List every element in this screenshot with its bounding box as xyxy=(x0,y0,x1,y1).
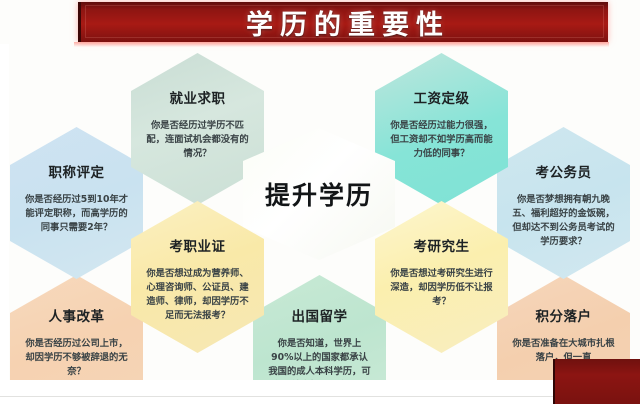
hex-title: 职称评定 xyxy=(49,161,105,181)
hex-zhicheng-pingding[interactable]: 职称评定 你是否经历过5到10年才能评定职称，而高学历的同事只需要2年？ xyxy=(10,127,143,279)
hex-title: 考职业证 xyxy=(170,235,226,255)
hex-title: 出国留学 xyxy=(292,305,348,325)
hex-body: 你是否梦想拥有朝九晚五、福利超好的金饭碗，但却达不到公务员考试的学历要求？ xyxy=(497,193,630,250)
hex-title: 工资定级 xyxy=(414,87,470,107)
bottom-page-mask xyxy=(0,380,640,404)
hex-body: 你是否经历过公司上市，却因学历不够被辞退的无奈？ xyxy=(10,337,143,379)
hex-body: 你是否想过考研究生进行深造，却因学历低不让报考？ xyxy=(375,267,508,309)
banner-glow xyxy=(74,42,609,47)
hex-title: 积分落户 xyxy=(536,305,592,325)
red-overlay-patch xyxy=(553,359,640,404)
hex-title: 考研究生 xyxy=(414,235,470,255)
left-page-mask xyxy=(0,44,9,384)
page-title: 学历的重要性 xyxy=(239,3,450,42)
hex-body: 你是否经历过5到10年才能评定职称，而高学历的同事只需要2年？ xyxy=(10,193,143,235)
hex-kao-gongwuyuan[interactable]: 考公务员 你是否梦想拥有朝九晚五、福利超好的金饭碗，但却达不到公务员考试的学历要… xyxy=(497,127,630,279)
bottom-rule xyxy=(0,396,640,397)
hex-title: 考公务员 xyxy=(536,161,592,181)
hex-body: 你是否想过成为营养师、心理咨询师、公证员、建造师、律师，却因学历不足而无法报考？ xyxy=(131,267,264,324)
hex-center-tisheng-xueli[interactable]: 提升学历 xyxy=(243,128,395,260)
hex-title: 人事改革 xyxy=(49,305,105,325)
hex-title: 就业求职 xyxy=(170,87,226,107)
title-banner: 学历的重要性 xyxy=(78,2,608,42)
hex-body: 你是否经历过能力很强，但工资却不如学历高而能力低的同事？ xyxy=(375,119,508,161)
hex-body: 你是否经历过学历不匹配，连面试机会都没有的情况？ xyxy=(131,119,264,161)
center-title: 提升学历 xyxy=(265,176,373,212)
infographic-canvas: 学历的重要性 就业求职 你是否经历过学历不匹配，连面试机会都没有的情况？ 工资定… xyxy=(0,0,640,404)
